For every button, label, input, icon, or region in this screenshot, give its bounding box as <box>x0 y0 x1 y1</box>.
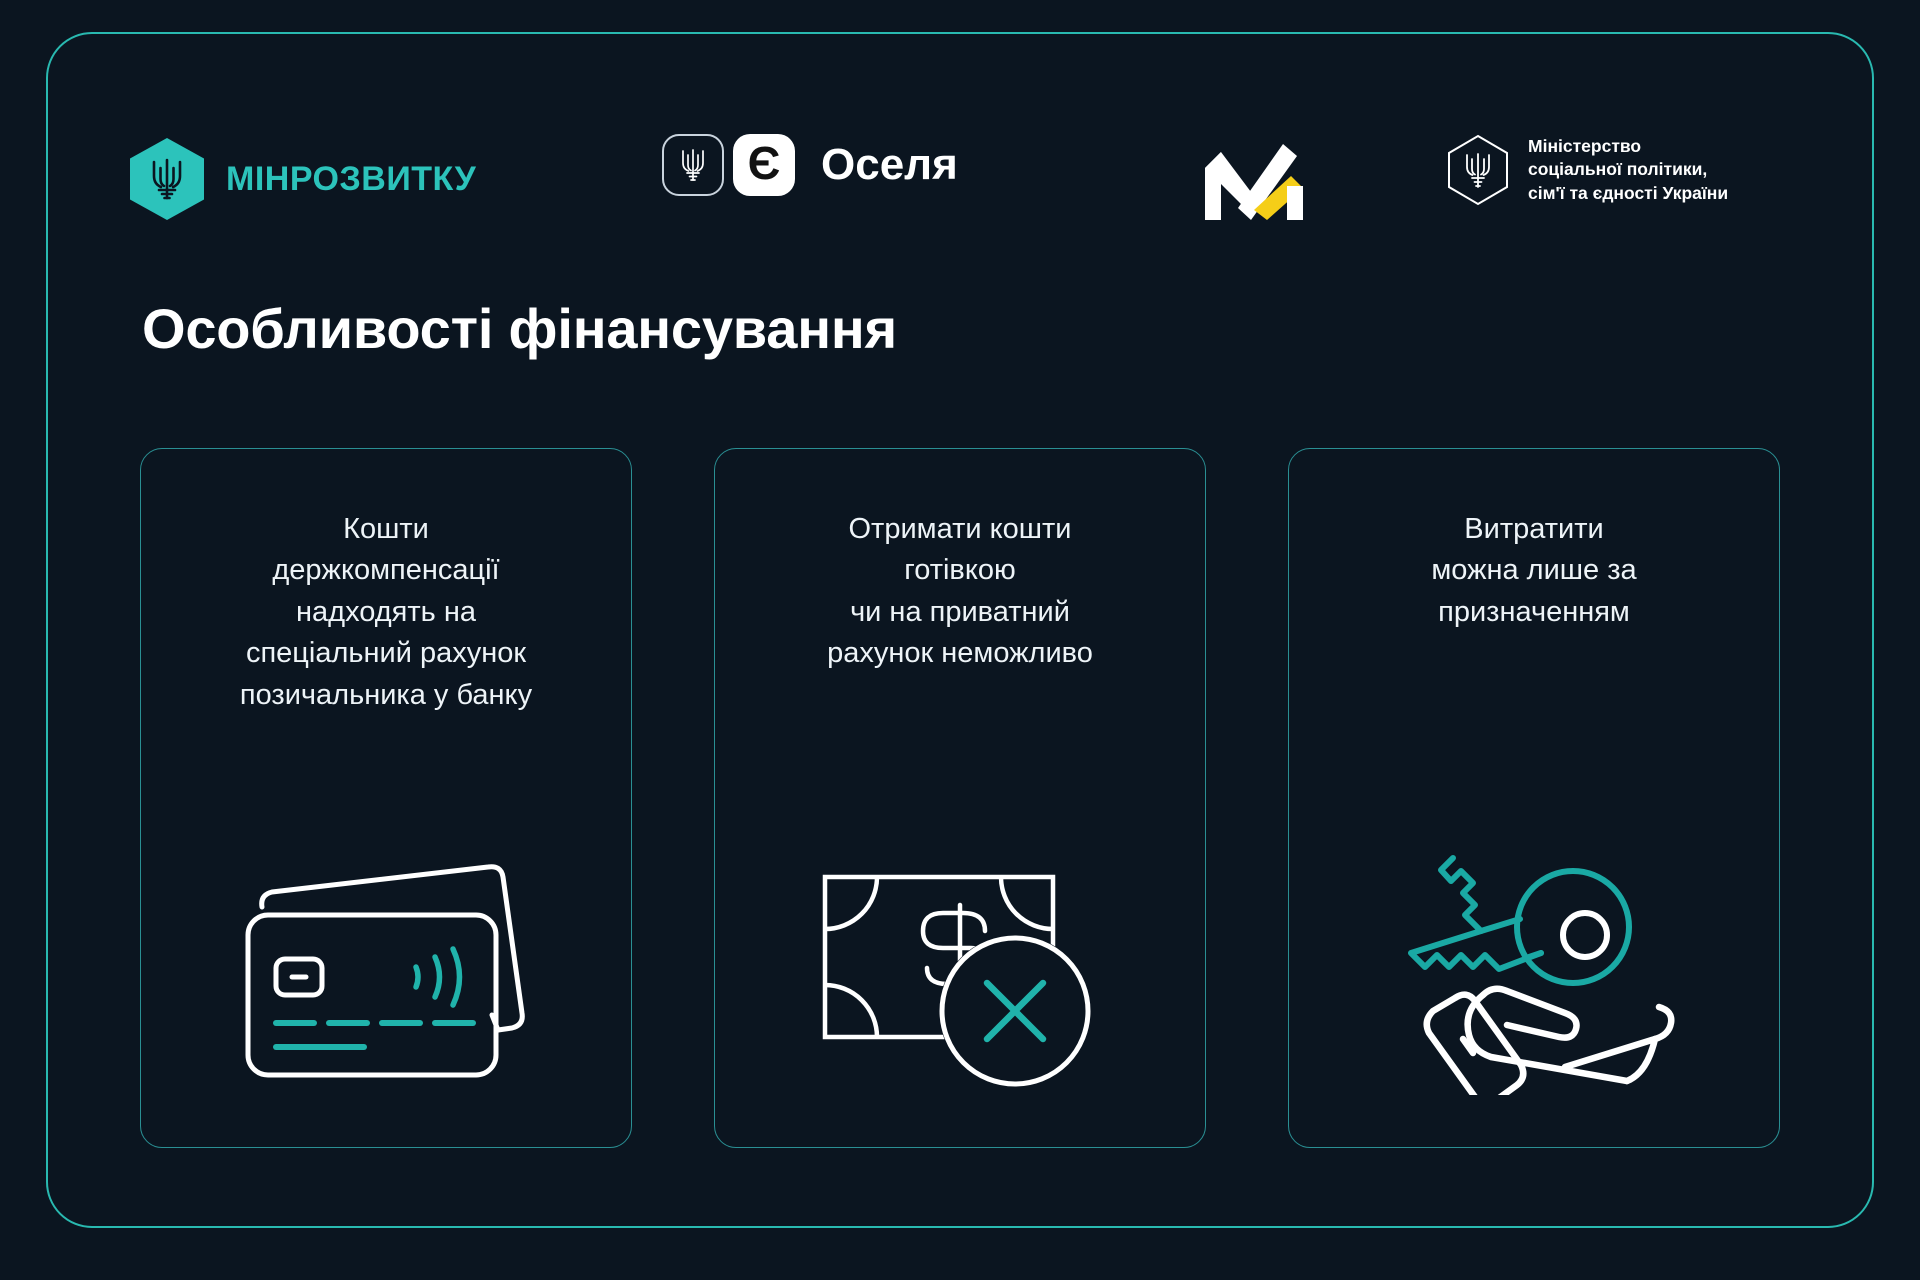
logo-minrozvytku: МІНРОЗВИТКУ <box>130 138 476 220</box>
card-purpose-only-figure <box>1289 815 1779 1095</box>
card-purpose-only: Витратити можна лише за призначенням <box>1288 448 1780 1148</box>
logo-minsoc-label: Міністерство соціальної політики, сім'ї … <box>1528 135 1728 205</box>
logo-oselia: Є Оселя <box>662 134 958 196</box>
logo-m-monogram <box>1205 138 1303 220</box>
logo-minsoc-line2: соціальної політики, <box>1528 158 1728 181</box>
trident-hexagon-icon <box>130 138 204 220</box>
card-no-cash: Отримати кошти готівкою чи на приватний … <box>714 448 1206 1148</box>
logo-minsoc: Міністерство соціальної політики, сім'ї … <box>1446 134 1728 206</box>
infographic-poster: МІНРОЗВИТКУ Є Оселя <box>0 0 1920 1280</box>
card-no-cash-figure <box>715 815 1205 1095</box>
logo-minrozvytku-label: МІНРОЗВИТКУ <box>226 160 476 199</box>
card-purpose-only-text: Витратити можна лише за призначенням <box>1324 509 1744 633</box>
logo-bar: МІНРОЗВИТКУ Є Оселя <box>130 120 1810 230</box>
trident-hexagon-outline-icon <box>1446 134 1510 206</box>
credit-cards-icon <box>236 855 536 1095</box>
page-title: Особливості фінансування <box>142 296 897 361</box>
card-special-account-text: Кошти держкомпенсації надходять на спеці… <box>176 509 596 716</box>
card-special-account-figure <box>141 815 631 1095</box>
card-no-cash-text: Отримати кошти готівкою чи на приватний … <box>750 509 1170 675</box>
card-special-account: Кошти держкомпенсації надходять на спеці… <box>140 448 632 1148</box>
banknote-prohibited-icon <box>815 855 1105 1095</box>
logo-minsoc-line1: Міністерство <box>1528 135 1728 158</box>
diia-trident-icon <box>662 134 724 196</box>
m-monogram-icon <box>1205 138 1303 220</box>
key-in-hand-icon <box>1389 835 1679 1095</box>
cards-row: Кошти держкомпенсації надходять на спеці… <box>140 448 1780 1148</box>
diia-e-badge: Є <box>733 134 795 196</box>
logo-minsoc-line3: сім'ї та єдності України <box>1528 182 1728 205</box>
logo-oselia-label: Оселя <box>821 140 958 190</box>
